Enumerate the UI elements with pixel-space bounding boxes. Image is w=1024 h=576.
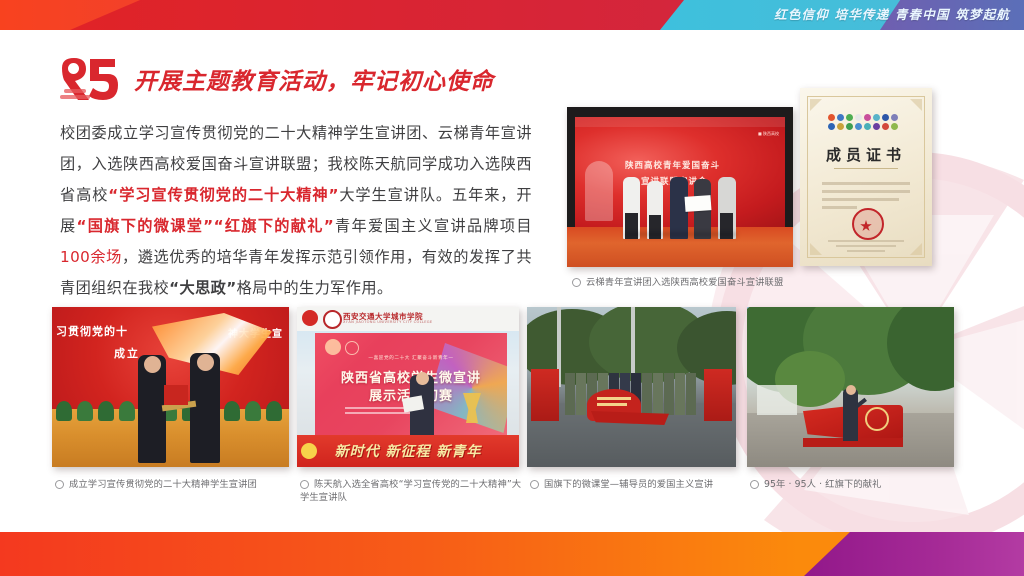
caption-bullet-icon — [750, 480, 759, 489]
body-paragraph: 校团委成立学习宣传贯彻党的二十大精神学生宣讲团、云梯青年宣讲团，入选陕西高校爱国… — [60, 118, 532, 304]
bottom-bar — [0, 532, 1024, 576]
para-part-5: 格局中的生力军作用。 — [237, 279, 393, 297]
anniversary-95-logo — [58, 56, 120, 102]
photo-flag-class[interactable] — [527, 307, 736, 467]
caption-flag-class-text: 国旗下的微课堂—辅导员的爱国主义宣讲 — [544, 479, 713, 490]
caption-flag-ceremony: 成立学习宣传贯彻党的二十大精神学生宣讲团 — [55, 478, 290, 491]
page-title: 开展主题教育活动，牢记初心使命 — [134, 62, 494, 96]
photo-top-group-scene: 陕西高校青年爱国奋斗 宣讲联盟宣讲会 ■ 陕西高校 — [567, 107, 793, 267]
screen-text-line1: 陕西高校青年爱国奋斗 — [625, 159, 720, 171]
caption-top-group: 云梯青年宣讲团入选陕西高校爱国奋斗宣讲联盟 — [572, 276, 822, 289]
caption-flag-ceremony-text: 成立学习宣传贯彻党的二十大精神学生宣讲团 — [69, 479, 257, 490]
caption-tribute-text: 95年 · 95人 · 红旗下的献礼 — [764, 479, 882, 490]
caption-bullet-icon — [572, 278, 581, 287]
caption-micro-speech-text: 陈天航入选全省高校“学习宣传党的二十大精神”大学生宣讲队 — [300, 479, 521, 503]
para-highlight-2: “国旗下的微课堂”“红旗下的献礼” — [77, 217, 335, 235]
top-banner: 红色信仰 培华传递 青春中国 筑梦起航 — [0, 0, 1024, 30]
caption-bullet-icon — [55, 480, 64, 489]
slide-root: 红色信仰 培华传递 青春中国 筑梦起航 开展主题教育活动，牢记初心使命 校团委成… — [0, 0, 1024, 576]
caption-tribute: 95年 · 95人 · 红旗下的献礼 — [750, 478, 956, 491]
photo-top-group[interactable]: 陕西高校青年爱国奋斗 宣讲联盟宣讲会 ■ 陕西高校 — [567, 107, 793, 267]
stage-text-line3: 成立 — [114, 345, 140, 361]
photo-tribute[interactable] — [747, 307, 954, 467]
banner-subtitle: 一喜迎党的二十大 汇聚奋斗新青年一 — [315, 355, 507, 361]
photo-micro-speech[interactable]: 西安交通大学城市学院 XI'AN JIAOTONG UNIVERSITY CIT… — [297, 307, 519, 467]
photo-flag-class-scene — [527, 307, 736, 467]
stage-text-line1: 习贯彻党的十 — [56, 323, 128, 339]
certificate-title: 成员证书 — [800, 144, 932, 165]
para-highlight-3: 100余场 — [60, 248, 122, 266]
header-slogan: 红色信仰 培华传递 青春中国 筑梦起航 — [774, 0, 1010, 30]
para-highlight-4: “大思政” — [169, 279, 237, 297]
banner-bottom-slogan: 新时代 新征程 新青年 — [297, 441, 519, 461]
caption-micro-speech: 陈天航入选全省高校“学习宣传党的二十大精神”大学生宣讲队 — [300, 478, 522, 504]
para-highlight-1: “学习宣传贯彻党的二十大精神” — [108, 186, 339, 204]
photo-certificate-scene: 成员证书 — [800, 88, 932, 266]
caption-top-group-text: 云梯青年宣讲团入选陕西高校爱国奋斗宣讲联盟 — [586, 277, 783, 288]
photo-tribute-scene — [747, 307, 954, 467]
title-row: 开展主题教育活动，牢记初心使命 — [58, 56, 494, 102]
para-part-3: 青年爱国主义宣讲品牌项目 — [334, 217, 532, 235]
caption-bullet-icon — [300, 480, 309, 489]
photo-flag-ceremony-scene: 习贯彻党的十 神大学生宣 成立 — [52, 307, 289, 467]
photo-flag-ceremony[interactable]: 习贯彻党的十 神大学生宣 成立 — [52, 307, 289, 467]
photo-micro-speech-scene: 西安交通大学城市学院 XI'AN JIAOTONG UNIVERSITY CIT… — [297, 307, 519, 467]
caption-flag-class: 国旗下的微课堂—辅导员的爱国主义宣讲 — [530, 478, 738, 491]
caption-bullet-icon — [530, 480, 539, 489]
photo-certificate[interactable]: 成员证书 — [800, 88, 932, 266]
